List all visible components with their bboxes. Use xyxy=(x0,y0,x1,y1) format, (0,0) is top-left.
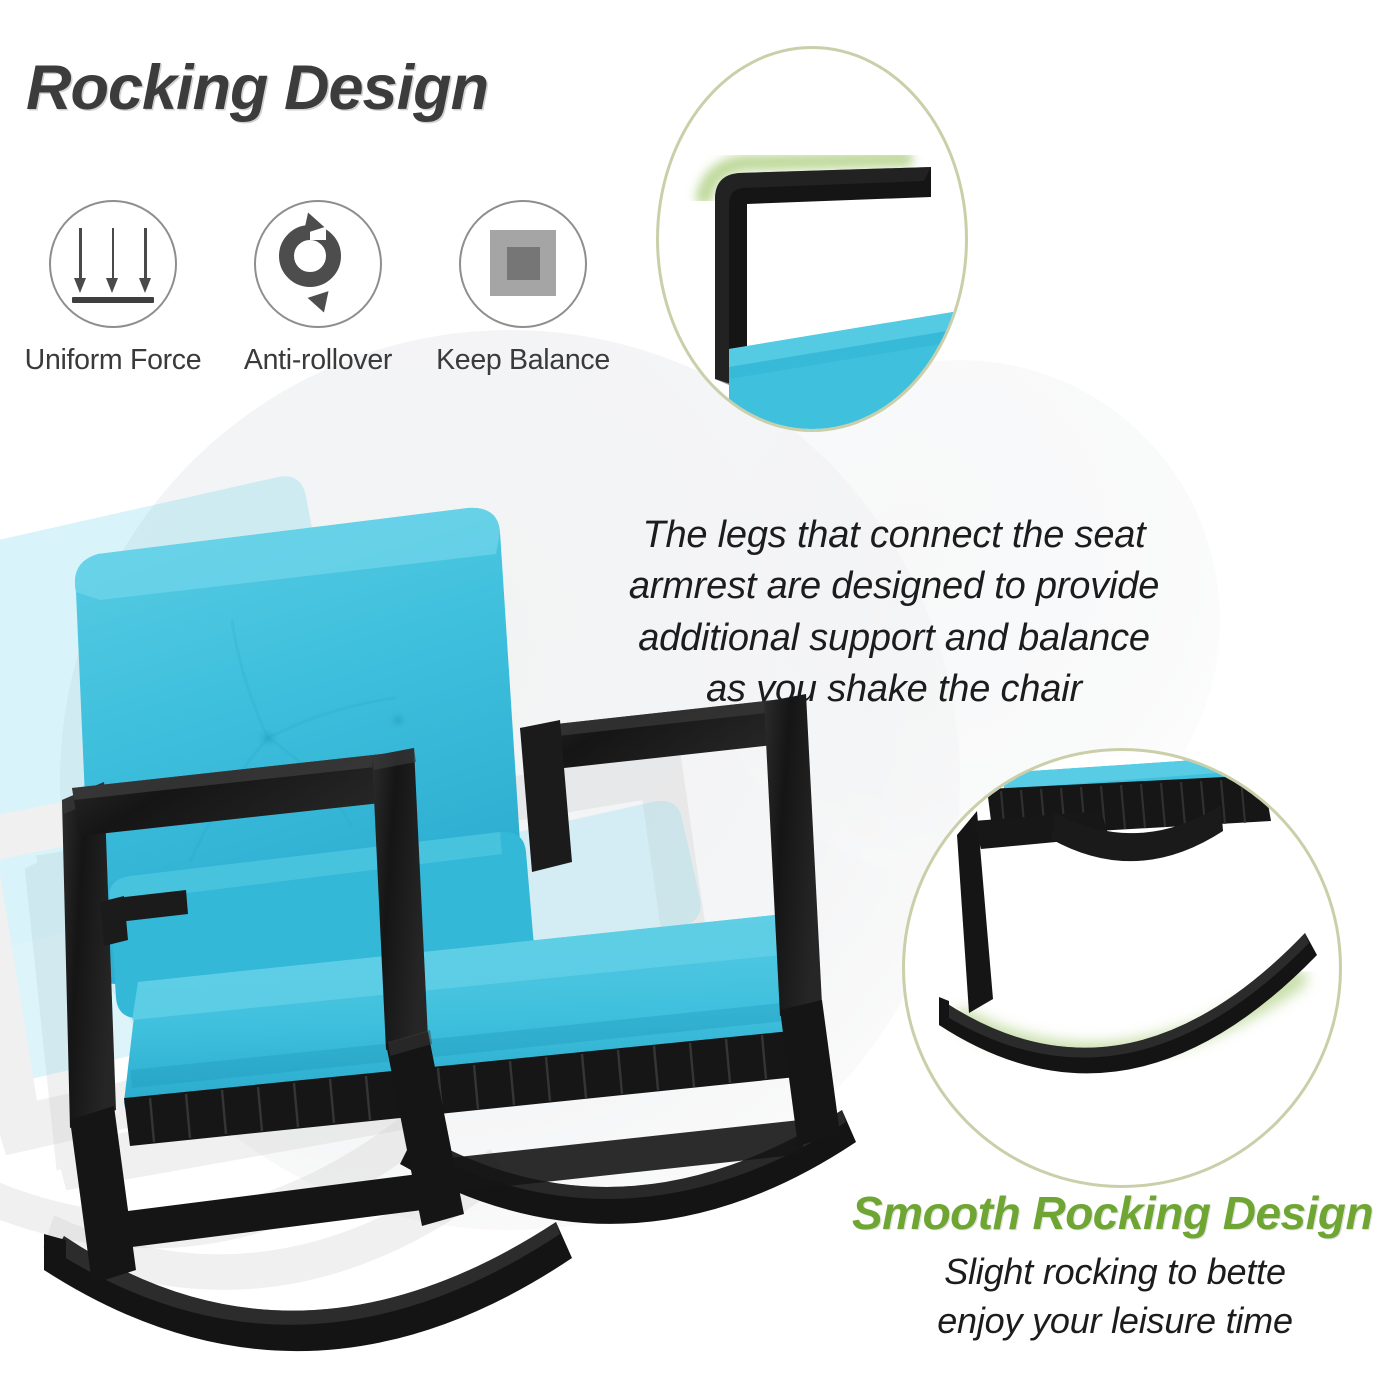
feature-label: Anti-rollover xyxy=(223,344,413,377)
feature-anti-rollover: Anti-rollover xyxy=(223,200,413,377)
bottom-callout-paragraph: Slight rocking to bette enjoy your leisu… xyxy=(860,1248,1370,1345)
feature-icon-row: Uniform Force Anti-rollover Keep Balance xyxy=(18,200,618,400)
paragraph-line: Slight rocking to bette xyxy=(860,1248,1370,1297)
page-title: Rocking Design xyxy=(26,52,488,124)
feature-uniform-force: Uniform Force xyxy=(18,200,208,377)
feature-keep-balance: Keep Balance xyxy=(428,200,618,377)
chair-main xyxy=(0,470,860,1370)
rocking-chair-illustration xyxy=(0,470,860,1370)
smooth-rocking-heading: Smooth Rocking Design xyxy=(852,1186,1372,1240)
down-arrows-on-bar-icon xyxy=(49,200,177,328)
rotation-arrows-icon xyxy=(254,200,382,328)
nested-squares-icon xyxy=(459,200,587,328)
armrest-leg-closeup-circle xyxy=(656,46,968,432)
feature-label: Keep Balance xyxy=(428,344,618,377)
paragraph-line: enjoy your leisure time xyxy=(860,1297,1370,1346)
infographic-canvas: Rocking Design Uniform Force Anti-rollov… xyxy=(0,0,1384,1384)
feature-label: Uniform Force xyxy=(18,344,208,377)
rocker-base-closeup-circle xyxy=(902,748,1342,1188)
